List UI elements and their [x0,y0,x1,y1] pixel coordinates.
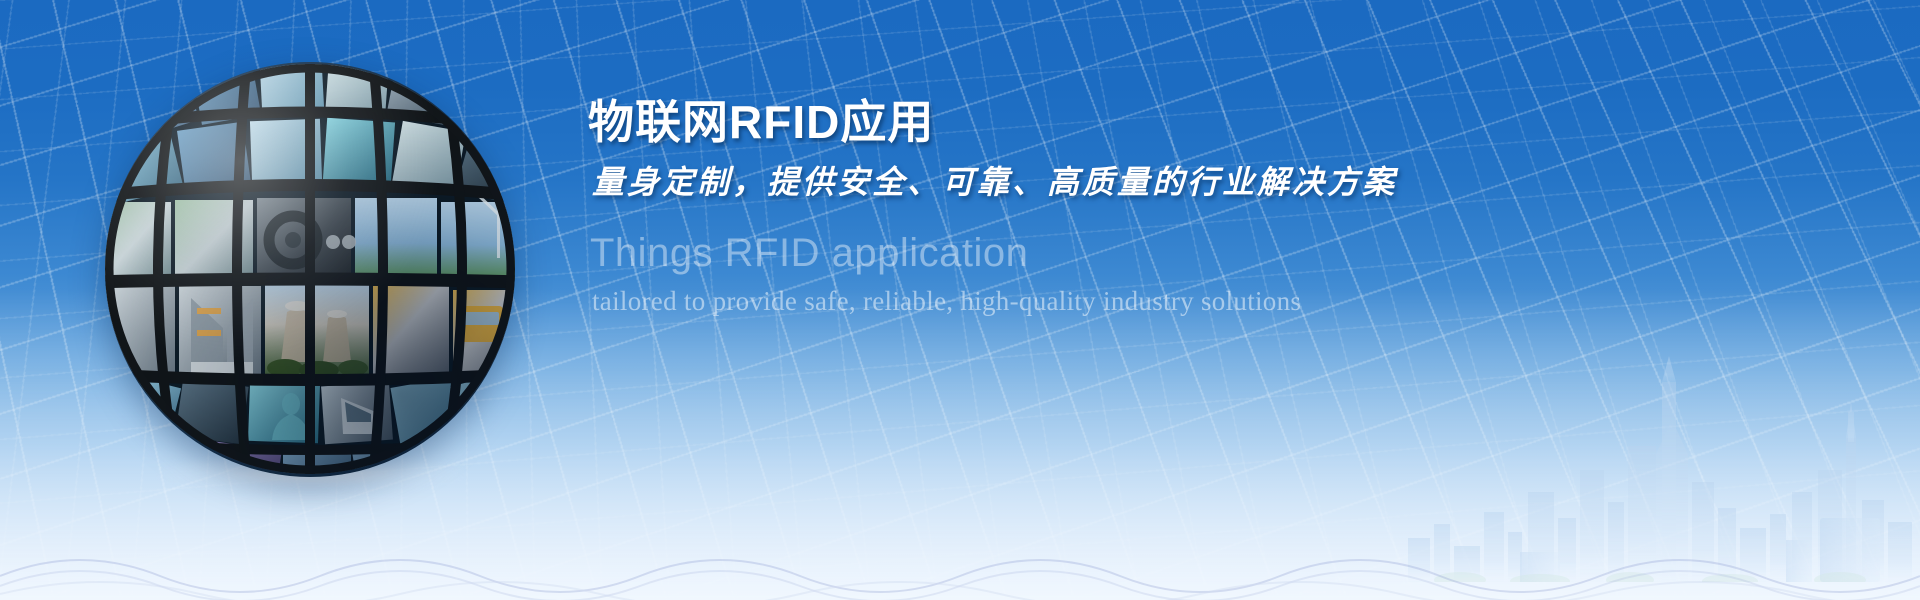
page-title-english: Things RFID application [590,231,1768,275]
city-skyline-silhouette [1400,342,1920,582]
page-subtitle-english: tailored to provide safe, reliable, high… [592,285,1768,317]
page-title: 物联网RFID应用 [588,96,1768,149]
photo-mosaic-globe [105,62,515,477]
globe-sphere [105,62,515,477]
page-subtitle: 量身定制，提供安全、可靠、高质量的行业解决方案 [592,163,1768,201]
rfid-hero-banner: 物联网RFID应用 量身定制，提供安全、可靠、高质量的行业解决方案 Things… [0,0,1920,600]
wave-pattern-strip [0,530,1920,600]
globe-tiles [105,62,515,477]
banner-copy: 物联网RFID应用 量身定制，提供安全、可靠、高质量的行业解决方案 Things… [588,96,1768,318]
